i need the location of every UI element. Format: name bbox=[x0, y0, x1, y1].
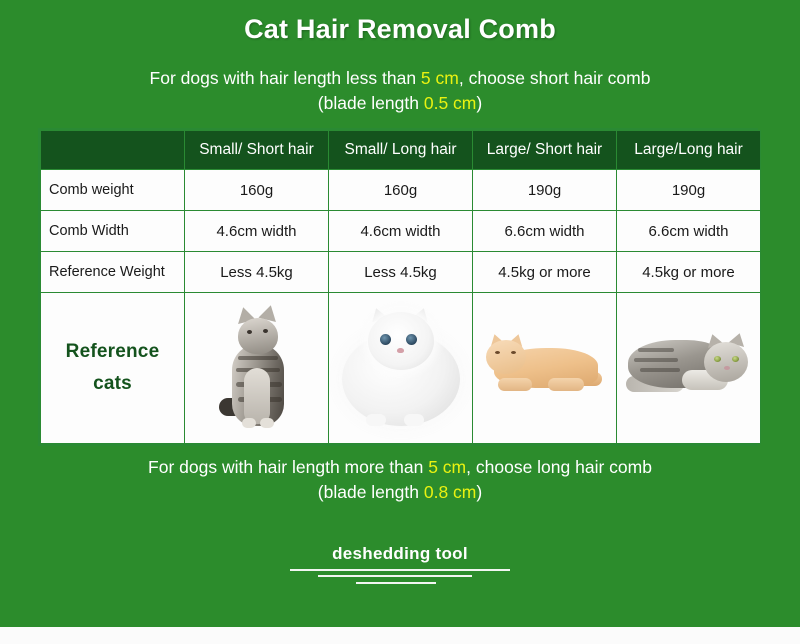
cat-eye-right bbox=[511, 351, 516, 354]
row-label-reference-weight: Reference Weight bbox=[41, 252, 185, 293]
outro-line-2-after: ) bbox=[476, 482, 482, 502]
footer-divider-line-3 bbox=[356, 582, 436, 584]
footer-caption: deshedding tool bbox=[0, 544, 800, 564]
cell-reference-weight-small-long: Less 4.5kg bbox=[329, 252, 473, 293]
outro-line-2-highlight: 0.8 cm bbox=[424, 482, 477, 502]
table-row: Comb Width 4.6cm width 4.6cm width 6.6cm… bbox=[41, 211, 761, 252]
silver-tabby-cat-lying-photo bbox=[626, 332, 752, 404]
row-label-comb-weight: Comb weight bbox=[41, 170, 185, 211]
cat-nose bbox=[724, 366, 730, 370]
outro-line-1-highlight: 5 cm bbox=[428, 457, 466, 477]
spec-table-body: Comb weight 160g 160g 190g 190g Comb Wid… bbox=[41, 170, 761, 444]
cat-head bbox=[238, 318, 278, 354]
cat-paw-left bbox=[366, 414, 386, 426]
cat-stripe bbox=[638, 348, 674, 352]
table-header-row: Small/ Short hair Small/ Long hair Large… bbox=[41, 131, 761, 170]
cell-reference-cat-large-long bbox=[617, 293, 761, 444]
intro-line-1-highlight: 5 cm bbox=[421, 68, 459, 88]
reference-cats-label-line-2: cats bbox=[41, 368, 184, 400]
table-row: Reference Weight Less 4.5kg Less 4.5kg 4… bbox=[41, 252, 761, 293]
table-row-reference-cats: Reference cats bbox=[41, 293, 761, 444]
cat-leg-front bbox=[498, 378, 532, 391]
intro-line-1-after: , choose short hair comb bbox=[459, 68, 651, 88]
cell-comb-weight-large-short: 190g bbox=[473, 170, 617, 211]
table-header-cell-blank bbox=[41, 131, 185, 170]
row-label-reference-cats: Reference cats bbox=[41, 293, 185, 444]
outro-line-2: (blade length 0.8 cm) bbox=[0, 480, 800, 505]
cat-paw-right bbox=[404, 414, 424, 426]
cell-reference-cat-small-long bbox=[329, 293, 473, 444]
cat-chest bbox=[244, 368, 270, 424]
cat-head bbox=[368, 312, 434, 370]
cell-comb-width-large-short: 6.6cm width bbox=[473, 211, 617, 252]
intro-text-block: For dogs with hair length less than 5 cm… bbox=[0, 66, 800, 116]
product-infographic: Cat Hair Removal Comb For dogs with hair… bbox=[0, 0, 800, 644]
cat-stripe bbox=[634, 358, 678, 362]
cat-leg-rear bbox=[548, 378, 584, 391]
intro-line-1-before: For dogs with hair length less than bbox=[150, 68, 421, 88]
spec-table: Small/ Short hair Small/ Long hair Large… bbox=[40, 130, 761, 444]
cat-stripe bbox=[238, 356, 278, 360]
spec-table-container: Small/ Short hair Small/ Long hair Large… bbox=[38, 128, 758, 446]
cell-reference-weight-large-long: 4.5kg or more bbox=[617, 252, 761, 293]
row-label-comb-width: Comb Width bbox=[41, 211, 185, 252]
cell-comb-weight-small-long: 160g bbox=[329, 170, 473, 211]
cell-comb-width-small-long: 4.6cm width bbox=[329, 211, 473, 252]
reference-cats-label-line-1: Reference bbox=[41, 336, 184, 368]
cat-eye-left bbox=[247, 330, 252, 334]
page-title: Cat Hair Removal Comb bbox=[0, 14, 800, 45]
outro-line-1: For dogs with hair length more than 5 cm… bbox=[0, 455, 800, 480]
cat-stripe bbox=[640, 368, 680, 372]
footer-divider-line-1 bbox=[290, 569, 510, 571]
cell-reference-cat-small-short bbox=[185, 293, 329, 444]
table-header-cell-large-long: Large/Long hair bbox=[617, 131, 761, 170]
table-header-cell-small-short: Small/ Short hair bbox=[185, 131, 329, 170]
cell-reference-weight-small-short: Less 4.5kg bbox=[185, 252, 329, 293]
intro-line-2-highlight: 0.5 cm bbox=[424, 93, 477, 113]
cat-paw-left bbox=[242, 418, 256, 428]
table-row: Comb weight 160g 160g 190g 190g bbox=[41, 170, 761, 211]
cat-eye-right bbox=[406, 334, 417, 345]
cell-reference-weight-large-short: 4.5kg or more bbox=[473, 252, 617, 293]
footer-divider-line-2 bbox=[318, 575, 472, 577]
cat-eye-left bbox=[495, 351, 500, 354]
intro-line-2-before: (blade length bbox=[318, 93, 424, 113]
table-header-cell-small-long: Small/ Long hair bbox=[329, 131, 473, 170]
spec-table-header: Small/ Short hair Small/ Long hair Large… bbox=[41, 131, 761, 170]
cell-comb-width-small-short: 4.6cm width bbox=[185, 211, 329, 252]
outro-line-1-after: , choose long hair comb bbox=[466, 457, 652, 477]
outro-line-1-before: For dogs with hair length more than bbox=[148, 457, 428, 477]
ginger-cat-lying-photo bbox=[486, 334, 604, 402]
intro-line-2-after: ) bbox=[476, 93, 482, 113]
cat-nose bbox=[397, 348, 404, 353]
outro-line-2-before: (blade length bbox=[318, 482, 424, 502]
cell-reference-cat-large-short bbox=[473, 293, 617, 444]
cat-eye-left bbox=[380, 334, 391, 345]
intro-line-2: (blade length 0.5 cm) bbox=[0, 91, 800, 116]
cat-head bbox=[486, 340, 526, 374]
cell-comb-weight-large-long: 190g bbox=[617, 170, 761, 211]
cat-paw-right bbox=[260, 418, 274, 428]
outro-text-block: For dogs with hair length more than 5 cm… bbox=[0, 455, 800, 505]
cat-eye-right bbox=[732, 356, 739, 362]
cat-eye-left bbox=[714, 356, 721, 362]
cat-head bbox=[704, 342, 748, 382]
cat-eye-right bbox=[263, 329, 268, 333]
table-header-cell-large-short: Large/ Short hair bbox=[473, 131, 617, 170]
bottom-white-strip bbox=[0, 627, 800, 644]
silver-tabby-kitten-sitting-photo bbox=[214, 302, 300, 434]
intro-line-1: For dogs with hair length less than 5 cm… bbox=[0, 66, 800, 91]
cell-comb-width-large-long: 6.6cm width bbox=[617, 211, 761, 252]
cell-comb-weight-small-short: 160g bbox=[185, 170, 329, 211]
white-persian-fluffy-cat-photo bbox=[342, 306, 460, 430]
